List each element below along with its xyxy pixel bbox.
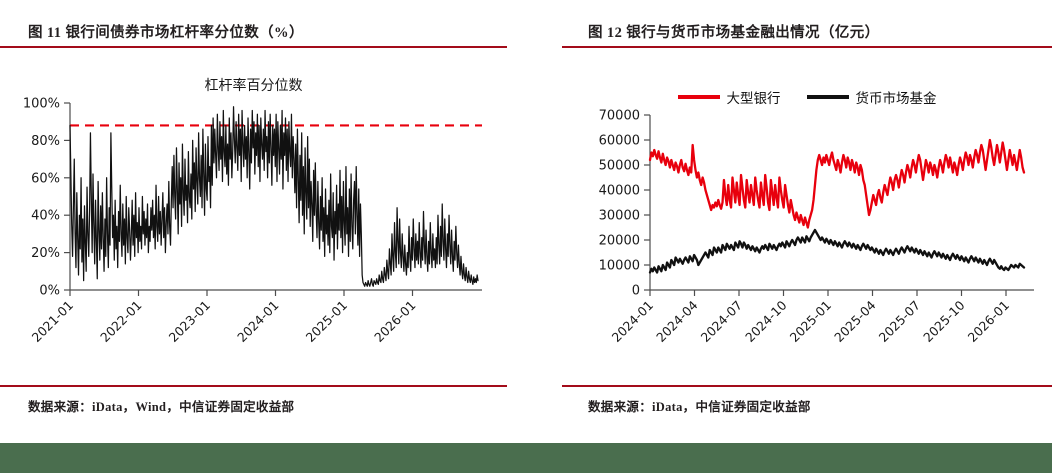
legend-label-large-banks: 大型银行 [727, 87, 781, 107]
svg-text:60000: 60000 [599, 134, 640, 149]
svg-text:2024-04: 2024-04 [653, 297, 701, 345]
chart-12: 大型银行 货币市场基金 0100002000030000400005000060… [562, 55, 1052, 380]
svg-text:2025-10: 2025-10 [920, 297, 968, 345]
chart-11-canvas: 0%20%40%60%80%100%2021-012022-012023-012… [0, 55, 507, 375]
svg-text:40%: 40% [31, 209, 60, 224]
chart-12-legend: 大型银行 货币市场基金 [562, 87, 1052, 107]
svg-text:0%: 0% [39, 284, 60, 299]
page-footer-bar [0, 443, 1052, 473]
figure-11-top-rule [0, 46, 507, 48]
figure-12-bottom-rule [562, 385, 1052, 387]
svg-text:2022-01: 2022-01 [97, 298, 145, 346]
svg-text:20000: 20000 [599, 234, 640, 249]
svg-text:2025-07: 2025-07 [876, 298, 924, 346]
legend-item-large-banks: 大型银行 [678, 87, 781, 107]
svg-text:50000: 50000 [599, 159, 640, 174]
figure-11-source: 数据来源：iData，Wind，中信证券固定收益部 [28, 396, 294, 415]
svg-text:70000: 70000 [599, 109, 640, 124]
figure-panel-12: 图 12 银行与货币市场基金融出情况（亿元） 大型银行 货币市场基金 01000… [526, 0, 1052, 430]
legend-label-money-market-fund: 货币市场基金 [856, 87, 937, 107]
legend-swatch-money-market-fund [807, 95, 849, 98]
svg-text:2024-10: 2024-10 [742, 297, 790, 345]
figure-page: 图 11 银行间债券市场杠杆率分位数（%） 杠杆率百分位数 0%20%40%60… [0, 0, 1052, 473]
figure-11-title: 图 11 银行间债券市场杠杆率分位数（%） [28, 21, 304, 42]
chart-11-title: 杠杆率百分位数 [0, 75, 507, 95]
chart-11: 杠杆率百分位数 0%20%40%60%80%100%2021-012022-01… [0, 55, 507, 380]
svg-text:0: 0 [632, 284, 640, 299]
figure-12-top-rule [562, 46, 1052, 48]
svg-text:2021-01: 2021-01 [29, 298, 77, 346]
svg-text:10000: 10000 [599, 259, 640, 274]
svg-text:2025-01: 2025-01 [787, 298, 835, 346]
svg-text:2024-07: 2024-07 [698, 298, 746, 346]
svg-text:2024-01: 2024-01 [609, 298, 657, 346]
figure-12-source: 数据来源：iData，中信证券固定收益部 [588, 396, 811, 415]
svg-text:2025-01: 2025-01 [303, 298, 351, 346]
svg-text:2026-01: 2026-01 [371, 298, 419, 346]
svg-text:2025-04: 2025-04 [831, 297, 879, 345]
svg-text:80%: 80% [31, 134, 60, 149]
svg-text:30000: 30000 [599, 209, 640, 224]
svg-text:2023-01: 2023-01 [166, 298, 214, 346]
legend-item-money-market-fund: 货币市场基金 [807, 87, 937, 107]
figure-12-title: 图 12 银行与货币市场基金融出情况（亿元） [588, 21, 880, 42]
svg-text:40000: 40000 [599, 184, 640, 199]
figure-11-bottom-rule [0, 385, 507, 387]
svg-text:60%: 60% [31, 171, 60, 186]
svg-text:20%: 20% [31, 246, 60, 261]
figure-panel-11: 图 11 银行间债券市场杠杆率分位数（%） 杠杆率百分位数 0%20%40%60… [0, 0, 526, 430]
svg-text:2026-01: 2026-01 [965, 298, 1013, 346]
legend-swatch-large-banks [678, 95, 720, 98]
svg-text:100%: 100% [23, 97, 60, 112]
svg-text:2024-01: 2024-01 [234, 298, 282, 346]
